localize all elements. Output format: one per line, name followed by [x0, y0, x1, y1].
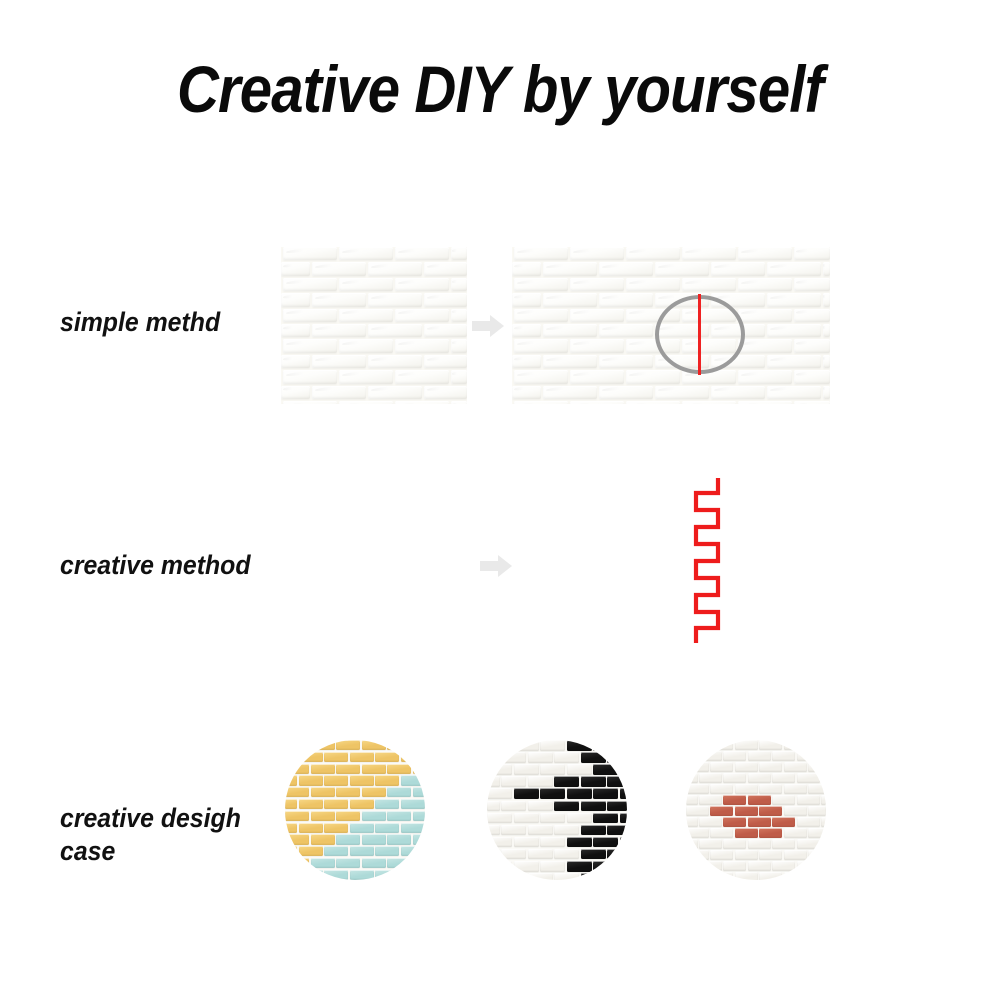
brick-tile	[682, 278, 736, 291]
brick-tile	[487, 788, 512, 799]
brick-tile	[626, 401, 680, 404]
brick-tile	[514, 309, 568, 322]
brick-tile	[821, 795, 826, 805]
brick-tile	[543, 293, 597, 306]
brick-tile	[735, 762, 758, 772]
brick-tile	[554, 873, 579, 880]
brick-tile	[748, 839, 771, 849]
brick-tile	[686, 839, 698, 849]
brick-tile	[311, 811, 335, 821]
brick-tile	[767, 355, 821, 368]
brick-tile	[395, 247, 449, 260]
brick-tile	[401, 752, 425, 762]
brick-tile	[387, 740, 411, 750]
brick-tile	[607, 873, 627, 880]
brick-tile	[823, 355, 830, 368]
brick-tile	[413, 858, 425, 868]
brick-tile	[723, 839, 746, 849]
brick-tile	[283, 401, 337, 404]
brick-tile	[784, 740, 807, 750]
brick-tile	[759, 784, 782, 794]
brick-tile	[540, 764, 565, 775]
brick-tile	[362, 811, 386, 821]
brick-tile	[784, 872, 807, 880]
brick-tile	[514, 861, 539, 872]
brick-tile	[808, 806, 826, 816]
brick-tile	[339, 309, 393, 322]
brick-tile	[375, 799, 399, 809]
brick-tile	[554, 825, 579, 836]
brick-tile	[710, 740, 733, 750]
brick-tile	[401, 775, 425, 785]
brick-tile	[554, 849, 579, 860]
design-case-yellow-teal	[285, 740, 425, 880]
brick-tile	[285, 858, 309, 868]
brick-tile	[599, 293, 653, 306]
brick-tile	[767, 293, 821, 306]
brick-tile	[686, 850, 709, 860]
brick-tile	[514, 247, 568, 260]
brick-tile	[570, 401, 624, 404]
brick-tile	[543, 262, 597, 275]
brick-tile	[738, 247, 792, 260]
brick-tile	[424, 293, 467, 306]
brick-tile	[686, 762, 709, 772]
brick-tile	[723, 773, 746, 783]
brick-tile	[554, 776, 579, 787]
brick-tile	[501, 752, 526, 763]
brick-tile	[570, 309, 624, 322]
brick-tile	[424, 324, 467, 337]
brick-tile	[283, 339, 337, 352]
brick-tile	[581, 801, 606, 812]
brick-tile	[699, 861, 722, 871]
brick-tile	[487, 825, 500, 836]
panel-creative-before	[286, 479, 482, 640]
brick-tile	[512, 386, 541, 399]
brick-tile	[401, 846, 425, 856]
brick-tile	[540, 813, 565, 824]
brick-tile	[528, 776, 553, 787]
brick-tile	[451, 247, 467, 260]
brick-tile	[554, 752, 579, 763]
brick-tile	[285, 752, 297, 762]
brick-tile	[738, 401, 792, 404]
brick-tile	[281, 386, 310, 399]
brick-tile	[767, 262, 821, 275]
brick-tile	[401, 870, 425, 880]
brick-tile	[784, 806, 807, 816]
brick-tile	[281, 293, 310, 306]
brick-tile	[738, 278, 792, 291]
brick-tile	[324, 870, 348, 880]
brick-tile	[487, 861, 512, 872]
brick-tile	[543, 386, 597, 399]
brick-tile	[808, 784, 826, 794]
brick-tile	[699, 839, 722, 849]
brick-tile	[299, 870, 323, 880]
brick-tile	[514, 837, 539, 848]
brick-tile	[324, 846, 348, 856]
brick-tile	[336, 787, 360, 797]
brick-tile	[540, 861, 565, 872]
brick-tile	[570, 278, 624, 291]
brick-tile	[285, 775, 297, 785]
brick-tile	[808, 872, 826, 880]
brick-tile	[324, 752, 348, 762]
brick-tile	[759, 740, 782, 750]
brick-tile	[686, 828, 709, 838]
brick-tile	[501, 825, 526, 836]
brick-tile	[797, 839, 820, 849]
brick-tile	[501, 873, 526, 880]
brick-tile	[682, 401, 736, 404]
brick-tile	[581, 873, 606, 880]
brick-tile	[784, 784, 807, 794]
brick-tile	[362, 764, 386, 774]
brick-tile	[699, 773, 722, 783]
row-label-design-case: creative desigh case	[60, 802, 241, 868]
brick-tile	[748, 817, 771, 827]
brick-tile	[514, 788, 539, 799]
brick-tile	[413, 787, 425, 797]
brick-tile	[375, 752, 399, 762]
brick-tile	[350, 799, 374, 809]
brick-tile	[607, 776, 627, 787]
brick-tile	[599, 262, 653, 275]
brick-tile	[710, 828, 733, 838]
brick-tile	[686, 784, 709, 794]
brick-tile	[686, 861, 698, 871]
brick-tile	[283, 247, 337, 260]
brick-tile	[543, 355, 597, 368]
brick-tile	[767, 386, 821, 399]
brick-tile	[336, 858, 360, 868]
brick-tile	[285, 787, 309, 797]
brick-tile	[767, 324, 821, 337]
brick-tile	[699, 751, 722, 761]
brick-tile	[285, 870, 297, 880]
brick-tile	[387, 764, 411, 774]
brick-tile	[336, 834, 360, 844]
brick-tile	[540, 788, 565, 799]
brick-tile	[395, 370, 449, 383]
brick-tile	[710, 762, 733, 772]
brick-tile	[797, 861, 820, 871]
brick-tile	[375, 870, 399, 880]
brick-tile	[362, 834, 386, 844]
brick-tile	[285, 764, 309, 774]
brick-tile	[487, 813, 512, 824]
brick-tile	[395, 339, 449, 352]
brick-tile	[514, 813, 539, 824]
brick-tile	[823, 324, 830, 337]
brick-tile	[620, 740, 628, 751]
brick-tile	[735, 872, 758, 880]
brick-tile	[487, 764, 512, 775]
brick-tile	[387, 834, 411, 844]
brick-tile	[567, 740, 592, 751]
arrow-right-icon	[472, 313, 504, 339]
brick-tile	[808, 828, 826, 838]
brick-tile	[312, 293, 366, 306]
brick-tile	[339, 401, 393, 404]
brick-tile	[528, 873, 553, 880]
brick-tile	[686, 806, 709, 816]
brick-tile	[823, 293, 830, 306]
brick-tile	[599, 355, 653, 368]
row-label-simple-method: simple methd	[60, 306, 220, 339]
brick-tile	[655, 386, 709, 399]
brick-tile	[620, 813, 628, 824]
brick-tile	[711, 262, 765, 275]
brick-tile	[748, 751, 771, 761]
brick-tile	[512, 324, 541, 337]
brick-tile	[593, 740, 618, 751]
brick-tile	[487, 837, 512, 848]
brick-tile	[375, 775, 399, 785]
brick-tile	[759, 762, 782, 772]
brick-tile	[823, 262, 830, 275]
brick-tile	[451, 309, 467, 322]
brick-tile	[570, 247, 624, 260]
brick-tile	[581, 752, 606, 763]
brick-tile	[723, 751, 746, 761]
brick-tile	[626, 370, 680, 383]
brick-tile	[375, 846, 399, 856]
brick-tile	[285, 823, 297, 833]
brick-tile	[514, 764, 539, 775]
brick-tile	[543, 324, 597, 337]
brick-tile	[759, 850, 782, 860]
brick-tile	[540, 837, 565, 848]
brick-tile	[395, 278, 449, 291]
brick-tile	[401, 799, 425, 809]
brick-tile	[368, 386, 422, 399]
brick-tile	[797, 773, 820, 783]
brick-tile	[735, 784, 758, 794]
brick-tile	[593, 861, 618, 872]
brick-tile	[413, 811, 425, 821]
brick-tile	[281, 262, 310, 275]
brick-tile	[735, 740, 758, 750]
brick-tile	[808, 762, 826, 772]
brick-tile	[528, 849, 553, 860]
brick-tile	[540, 740, 565, 751]
brick-tile	[285, 811, 309, 821]
design-case-black-white	[487, 740, 627, 880]
brick-tile	[512, 293, 541, 306]
brick-tile	[808, 850, 826, 860]
brick-tile	[759, 872, 782, 880]
brick-tile	[710, 872, 733, 880]
brick-tile	[821, 839, 826, 849]
brick-tile	[620, 837, 628, 848]
brick-tile	[735, 828, 758, 838]
brick-tile	[413, 764, 425, 774]
brick-tile	[514, 740, 539, 751]
brick-tile	[413, 834, 425, 844]
brick-tile	[748, 861, 771, 871]
brick-tile	[324, 823, 348, 833]
brick-tile	[487, 873, 500, 880]
brick-tile	[451, 339, 467, 352]
brick-tile	[395, 309, 449, 322]
brick-tile	[710, 806, 733, 816]
brick-tile	[528, 825, 553, 836]
brick-tile	[723, 817, 746, 827]
brick-tile	[570, 339, 624, 352]
brick-tile	[686, 751, 698, 761]
brick-tile	[362, 787, 386, 797]
brick-tile	[593, 837, 618, 848]
brick-tile	[512, 355, 541, 368]
brick-tile	[299, 846, 323, 856]
brick-tile	[821, 817, 826, 827]
brick-tile	[487, 801, 500, 812]
brick-tile	[350, 846, 374, 856]
brick-tile	[312, 324, 366, 337]
poster-canvas: Creative DIY by yourself simple methd cr…	[0, 0, 1000, 1000]
brick-tile	[748, 773, 771, 783]
brick-tile	[368, 324, 422, 337]
brick-tile	[567, 861, 592, 872]
brick-tile	[686, 740, 709, 750]
brick-tile	[772, 861, 795, 871]
brick-tile	[686, 773, 698, 783]
brick-tile	[514, 278, 568, 291]
brick-tile	[283, 278, 337, 291]
brick-tile	[285, 740, 309, 750]
brick-tile	[794, 278, 830, 291]
brick-tile	[735, 806, 758, 816]
brick-tile	[794, 247, 830, 260]
brick-tile	[285, 799, 297, 809]
brick-tile	[738, 309, 792, 322]
brick-tile	[794, 370, 830, 383]
brick-tile	[424, 386, 467, 399]
brick-tile	[655, 262, 709, 275]
brick-tile	[599, 386, 653, 399]
brick-tile	[512, 262, 541, 275]
brick-tile	[368, 262, 422, 275]
brick-tile	[339, 278, 393, 291]
brick-tile	[375, 823, 399, 833]
brick-tile	[350, 752, 374, 762]
brick-tile	[514, 339, 568, 352]
brick-tile	[312, 355, 366, 368]
panel-simple-before	[281, 247, 467, 404]
brick-tile	[794, 401, 830, 404]
brick-tile	[607, 825, 627, 836]
brick-tile	[311, 858, 335, 868]
brick-tile	[368, 293, 422, 306]
brick-tile	[567, 764, 592, 775]
brick-tile	[514, 370, 568, 383]
brick-tile	[686, 872, 709, 880]
brick-tile	[607, 752, 627, 763]
brick-tile	[620, 861, 628, 872]
brick-tile	[451, 370, 467, 383]
brick-tile	[710, 784, 733, 794]
brick-tile	[626, 247, 680, 260]
brick-tile	[821, 773, 826, 783]
brick-tile	[772, 817, 795, 827]
brick-tile	[424, 355, 467, 368]
brick-tile	[772, 795, 795, 805]
brick-tile	[554, 801, 579, 812]
brick-tile	[336, 764, 360, 774]
brick-tile	[821, 861, 826, 871]
brick-tile	[593, 764, 618, 775]
brick-tile	[821, 751, 826, 761]
brick-tile	[311, 764, 335, 774]
brick-tile	[759, 806, 782, 816]
brick-tile	[794, 309, 830, 322]
brick-tile	[797, 751, 820, 761]
brick-tile	[514, 401, 568, 404]
brick-tile	[797, 795, 820, 805]
brick-tile	[285, 834, 309, 844]
brick-tile	[528, 752, 553, 763]
brick-tile	[794, 339, 830, 352]
brick-tile	[581, 776, 606, 787]
brick-tile	[311, 834, 335, 844]
brick-tile	[599, 324, 653, 337]
brick-tile	[387, 858, 411, 868]
brick-tile	[387, 811, 411, 821]
brick-tile	[501, 849, 526, 860]
brick-tile	[451, 401, 467, 404]
brick-tile	[772, 839, 795, 849]
brick-tile	[808, 740, 826, 750]
brick-tile	[285, 846, 297, 856]
brick-tile	[487, 776, 500, 787]
brick-tile	[362, 858, 386, 868]
brick-tile	[336, 811, 360, 821]
brick-tile	[387, 787, 411, 797]
brick-tile	[748, 795, 771, 805]
brick-tile	[336, 740, 360, 750]
brick-tile	[784, 850, 807, 860]
brick-tile	[723, 861, 746, 871]
brick-tile	[528, 801, 553, 812]
brick-tile	[324, 775, 348, 785]
brick-tile	[620, 764, 628, 775]
brick-tile	[738, 370, 792, 383]
design-case-red-accent	[686, 740, 826, 880]
brick-tile	[738, 339, 792, 352]
brick-tile	[735, 850, 758, 860]
brick-tile	[593, 788, 618, 799]
brick-tile	[570, 370, 624, 383]
brick-tile	[686, 795, 698, 805]
brick-tile	[593, 813, 618, 824]
brick-tile	[699, 795, 722, 805]
brick-tile	[324, 799, 348, 809]
brick-tile	[395, 401, 449, 404]
brick-tile	[607, 801, 627, 812]
brick-tile	[607, 849, 627, 860]
brick-tile	[501, 801, 526, 812]
brick-tile	[283, 309, 337, 322]
brick-tile	[299, 823, 323, 833]
brick-tile	[581, 825, 606, 836]
brick-tile	[620, 788, 628, 799]
brick-tile	[699, 817, 722, 827]
brick-tile	[281, 355, 310, 368]
brick-tile	[797, 817, 820, 827]
